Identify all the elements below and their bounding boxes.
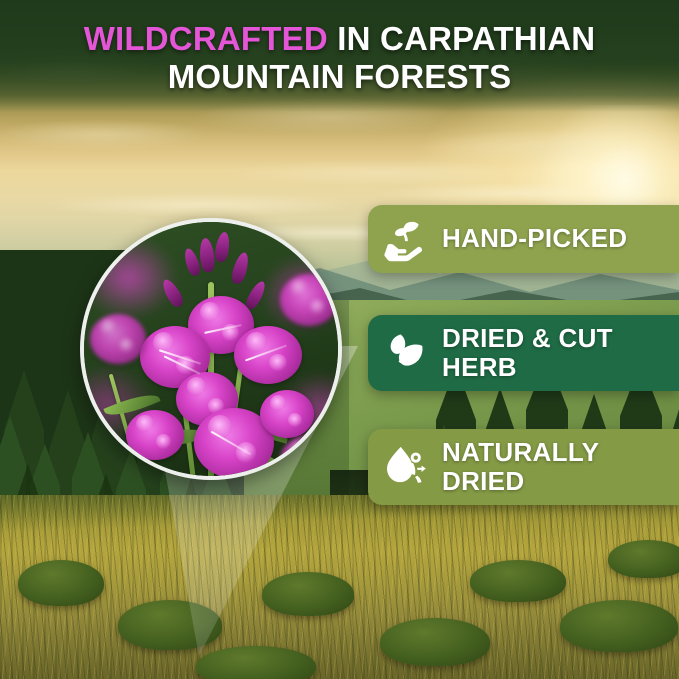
flower-bloom — [234, 326, 302, 384]
headline-line-1: WILDCRAFTED IN CARPATHIAN — [84, 20, 596, 58]
shrub — [380, 618, 490, 666]
badge-label-line-1: DRIED & CUT — [442, 323, 613, 353]
hand-holding-sprout-icon — [382, 216, 428, 262]
droplet-with-herb-icon — [382, 444, 428, 490]
header-banner: WILDCRAFTED IN CARPATHIAN MOUNTAIN FORES… — [0, 0, 679, 112]
badge-label-line-1: NATURALLY — [442, 437, 599, 467]
shrub — [470, 560, 566, 602]
badge-label-line-2: DRIED — [442, 466, 524, 496]
fireweed-photo — [84, 222, 338, 476]
headline-accent-word: WILDCRAFTED — [84, 20, 328, 57]
badge-label: HAND-PICKED — [442, 224, 627, 253]
flower-bloom — [280, 436, 336, 480]
pin-photo-circle — [80, 218, 342, 480]
flower-bloom — [90, 314, 146, 364]
shrub — [608, 540, 679, 578]
headline-line-2: MOUNTAIN FORESTS — [168, 58, 512, 96]
location-pin — [58, 196, 358, 656]
two-leaves-icon — [382, 330, 428, 376]
flower-bloom — [260, 390, 314, 438]
badge-dried-and-cut-herb[interactable]: DRIED & CUTHERB — [368, 315, 679, 391]
flower-bloom — [280, 274, 338, 326]
badge-hand-picked[interactable]: HAND-PICKED — [368, 205, 679, 273]
badge-label: DRIED & CUTHERB — [442, 324, 613, 382]
badge-label: NATURALLYDRIED — [442, 438, 599, 496]
badge-label-line-2: HERB — [442, 352, 517, 382]
marketing-banner: WILDCRAFTED IN CARPATHIAN MOUNTAIN FORES… — [0, 0, 679, 679]
feature-badge-list: HAND-PICKED DRIED & CUTHERB — [368, 205, 679, 505]
shrub — [560, 600, 678, 652]
headline-line-1-rest: IN CARPATHIAN — [328, 20, 595, 57]
badge-naturally-dried[interactable]: NATURALLYDRIED — [368, 429, 679, 505]
